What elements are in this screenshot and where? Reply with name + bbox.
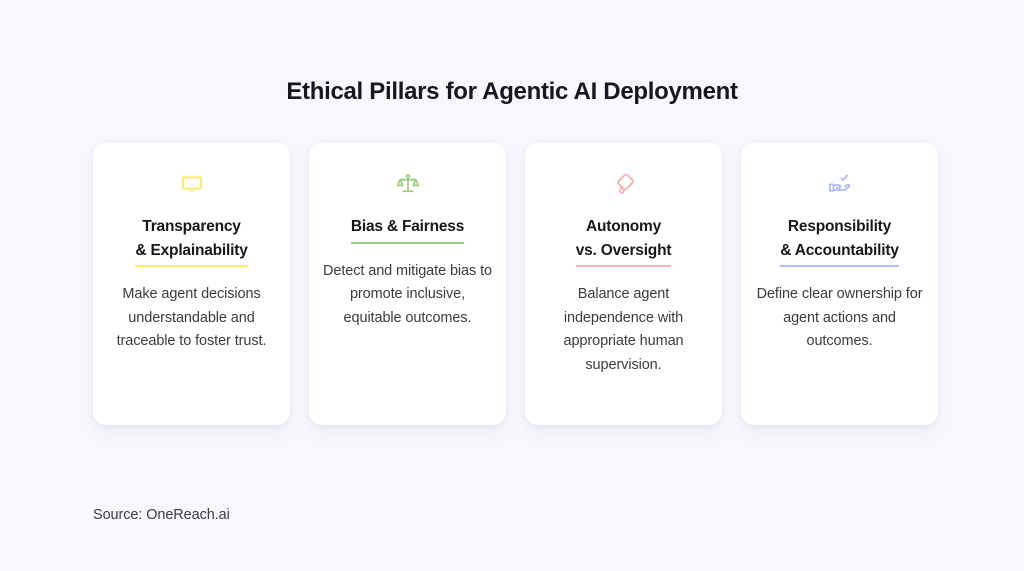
pillar-body-bias-fairness: Detect and mitigate bias to promote incl… bbox=[323, 260, 492, 330]
pillar-card-autonomy[interactable]: Autonomy vs. Oversight Balance agent ind… bbox=[525, 143, 722, 425]
hand-check-icon bbox=[823, 169, 857, 199]
pillar-body-transparency: Make agent decisions understandable and … bbox=[107, 283, 276, 353]
heading-line-2: & Accountability bbox=[780, 242, 899, 259]
speech-bubble-icon bbox=[175, 169, 209, 199]
kite-diamond-icon bbox=[607, 169, 641, 199]
pillar-body-responsibility: Define clear ownership for agent actions… bbox=[755, 283, 924, 353]
heading-line-1: Responsibility bbox=[788, 218, 891, 235]
heading-line-2: & Explainability bbox=[135, 242, 247, 259]
heading-line-2: vs. Oversight bbox=[576, 242, 672, 259]
pillar-heading-autonomy: Autonomy vs. Oversight bbox=[576, 215, 672, 267]
pillar-heading-transparency: Transparency & Explainability bbox=[135, 215, 247, 267]
pillar-card-bias-fairness[interactable]: Bias & Fairness Detect and mitigate bias… bbox=[309, 143, 506, 425]
page-title: Ethical Pillars for Agentic AI Deploymen… bbox=[0, 78, 1024, 106]
pillar-card-list: Transparency & Explainability Make agent… bbox=[93, 143, 938, 425]
pillar-heading-bias-fairness: Bias & Fairness bbox=[351, 215, 464, 244]
heading-line-1: Autonomy bbox=[586, 218, 661, 235]
heading-line-1: Bias & Fairness bbox=[351, 218, 464, 235]
infographic-root: Ethical Pillars for Agentic AI Deploymen… bbox=[0, 0, 1024, 571]
pillar-card-responsibility[interactable]: Responsibility & Accountability Define c… bbox=[741, 143, 938, 425]
pillar-card-transparency[interactable]: Transparency & Explainability Make agent… bbox=[93, 143, 290, 425]
heading-line-1: Transparency bbox=[142, 218, 240, 235]
pillar-body-autonomy: Balance agent independence with appropri… bbox=[539, 283, 708, 377]
pillar-heading-responsibility: Responsibility & Accountability bbox=[780, 215, 899, 267]
balance-scale-icon bbox=[391, 169, 425, 199]
source-attribution: Source: OneReach.ai bbox=[93, 507, 230, 523]
